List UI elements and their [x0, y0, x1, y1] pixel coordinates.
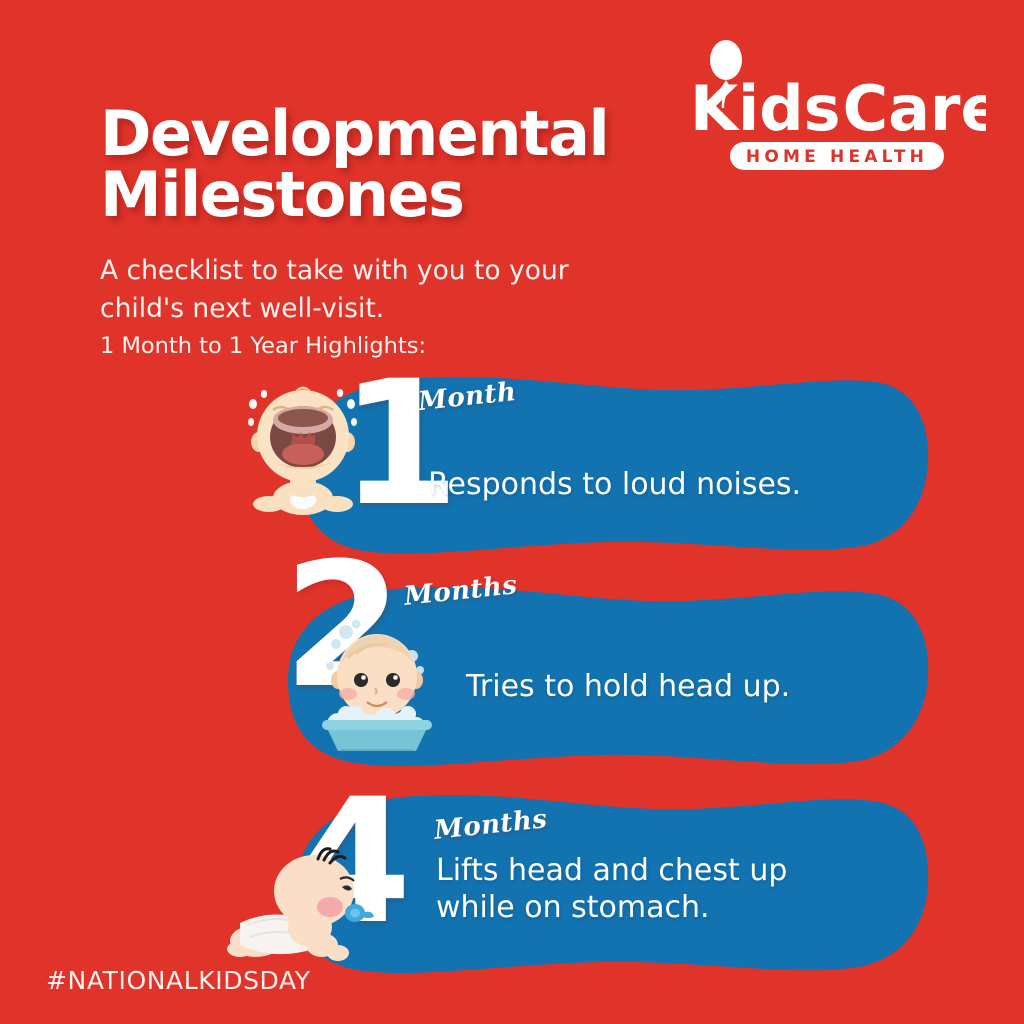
crying-baby-icon	[243, 380, 363, 530]
milestone-text-1: Responds to loud noises.	[428, 466, 898, 503]
infographic-poster: Developmental Milestones A checklist to …	[0, 0, 1024, 1024]
page-title: Developmental Milestones	[100, 104, 700, 226]
page-subtitle: A checklist to take with you to your chi…	[100, 252, 660, 327]
baby-in-bathtub-icon	[312, 618, 442, 753]
logo-tagline-text: HOME HEALTH	[746, 147, 928, 167]
kidscare-logo: KidsCare HOME HEALTH	[686, 38, 986, 178]
highlights-label: 1 Month to 1 Year Highlights:	[100, 333, 426, 359]
milestone-text-2: Tries to hold head up.	[466, 668, 916, 705]
milestone-text-3: Lifts head and chest up while on stomach…	[436, 852, 896, 926]
hashtag-label: #NATIONALKIDSDAY	[46, 966, 311, 995]
crawling-baby-icon	[226, 845, 386, 975]
logo-brand-text: KidsCare	[690, 72, 986, 145]
